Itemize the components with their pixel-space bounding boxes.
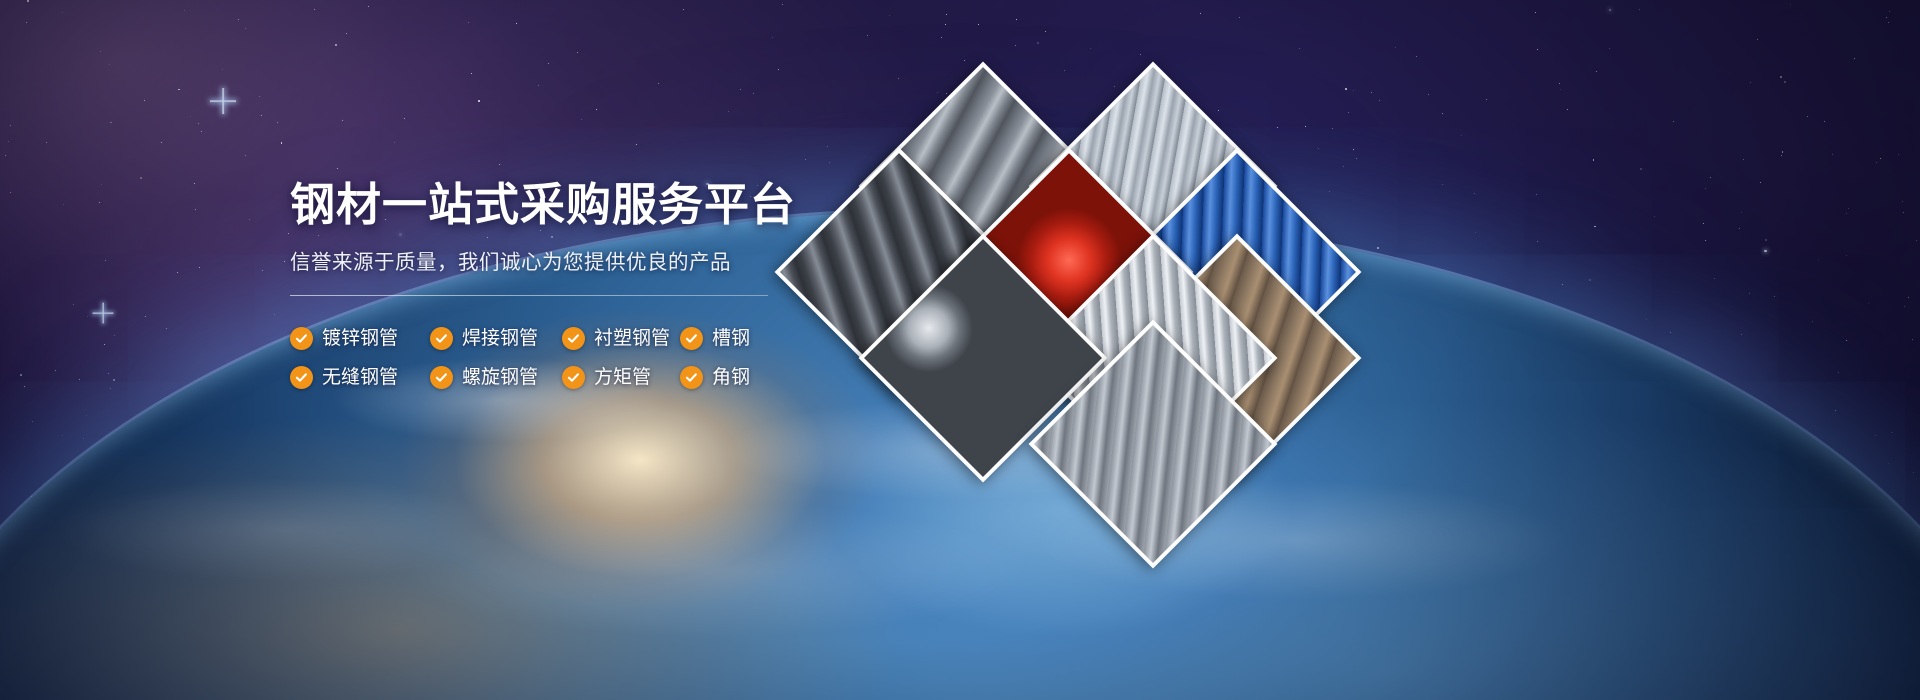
- product-tag-row: 无缝钢管 螺旋钢管 方矩管: [290, 366, 760, 389]
- hero-banner: 钢材一站式采购服务平台 信誉来源于质量，我们诚心为您提供优良的产品 镀锌钢管 焊…: [0, 0, 1920, 700]
- banner-title: 钢材一站式采购服务平台: [290, 182, 760, 227]
- check-circle-icon: [562, 327, 585, 350]
- content-divider: [290, 295, 768, 296]
- product-tag[interactable]: 槽钢: [680, 327, 750, 350]
- product-tag-label: 方矩管: [594, 368, 651, 387]
- product-tag-row: 镀锌钢管 焊接钢管 衬塑钢管: [290, 327, 760, 350]
- check-circle-icon: [430, 327, 453, 350]
- product-tag[interactable]: 镀锌钢管: [290, 327, 430, 350]
- product-photo-collage: [735, 88, 1293, 488]
- product-tag-label: 槽钢: [712, 329, 750, 348]
- check-circle-icon: [290, 366, 313, 389]
- product-tag[interactable]: 角钢: [680, 366, 750, 389]
- check-circle-icon: [680, 366, 703, 389]
- check-circle-icon: [562, 366, 585, 389]
- product-tag[interactable]: 焊接钢管: [430, 327, 562, 350]
- product-tag-label: 螺旋钢管: [462, 368, 538, 387]
- product-tag[interactable]: 衬塑钢管: [562, 327, 680, 350]
- banner-subtitle: 信誉来源于质量，我们诚心为您提供优良的产品: [290, 253, 760, 274]
- product-tag[interactable]: 螺旋钢管: [430, 366, 562, 389]
- product-tag-label: 镀锌钢管: [322, 329, 398, 348]
- product-tag-label: 角钢: [712, 368, 750, 387]
- product-tag-list: 镀锌钢管 焊接钢管 衬塑钢管: [290, 327, 760, 389]
- product-tag[interactable]: 方矩管: [562, 366, 680, 389]
- product-tag-label: 无缝钢管: [322, 368, 398, 387]
- check-circle-icon: [680, 327, 703, 350]
- product-tag[interactable]: 无缝钢管: [290, 366, 430, 389]
- product-tag-label: 衬塑钢管: [594, 329, 670, 348]
- product-tag-label: 焊接钢管: [462, 329, 538, 348]
- banner-content: 钢材一站式采购服务平台 信誉来源于质量，我们诚心为您提供优良的产品 镀锌钢管 焊…: [290, 182, 760, 389]
- check-circle-icon: [430, 366, 453, 389]
- check-circle-icon: [290, 327, 313, 350]
